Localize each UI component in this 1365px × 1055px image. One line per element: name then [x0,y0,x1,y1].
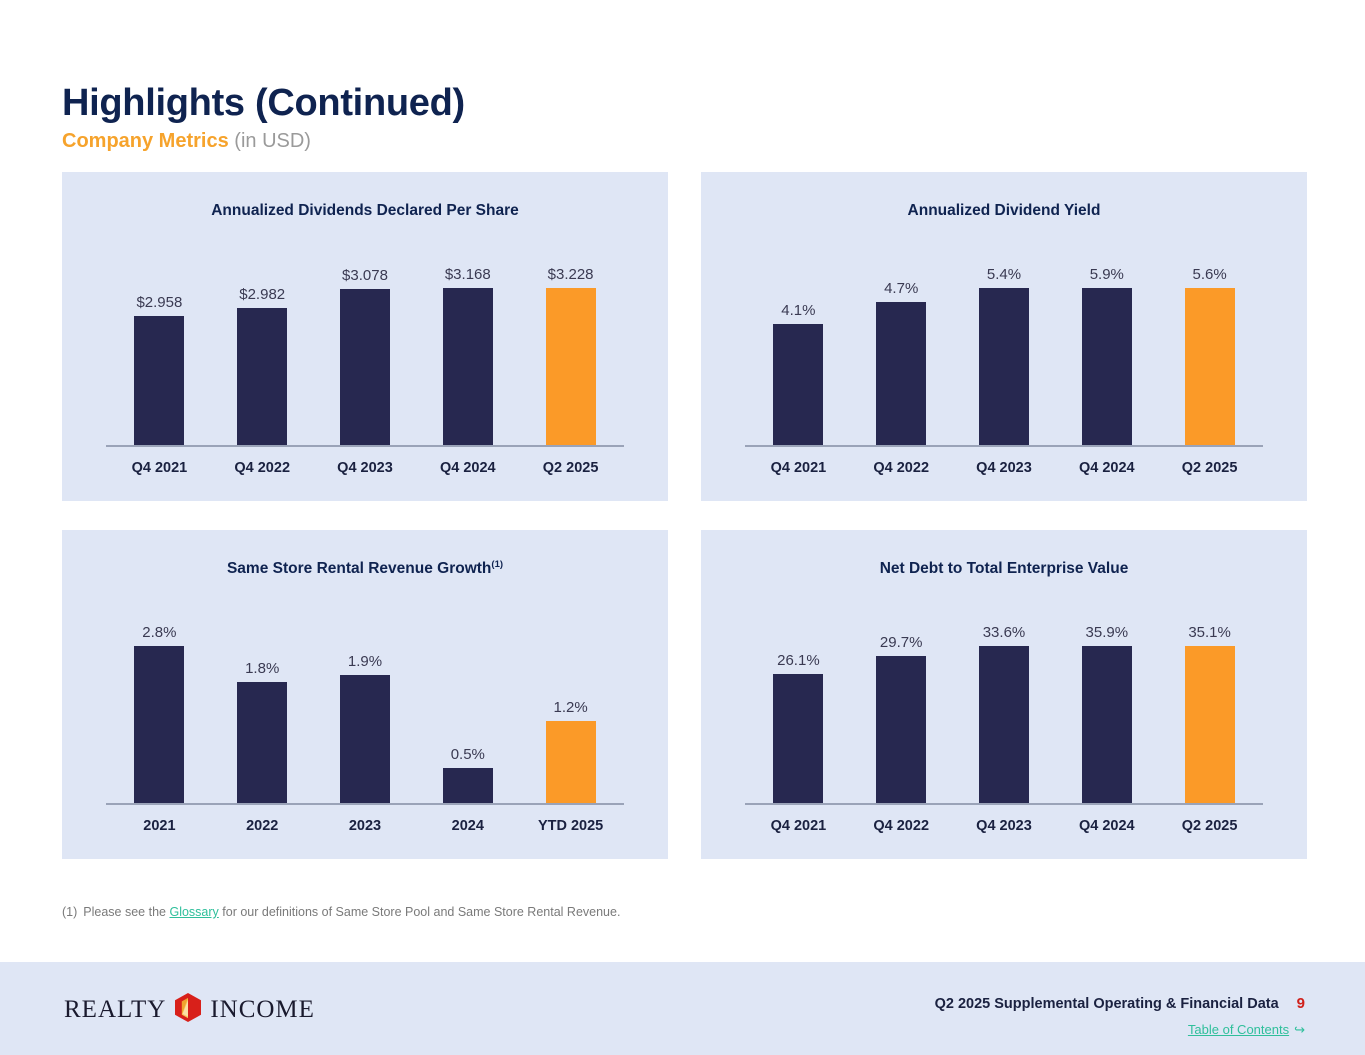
bar-slot: 1.2% [519,625,622,803]
chart-plot-area: 2.8%1.8%1.9%0.5%1.2%2021202220232024YTD … [62,607,668,859]
bar [773,324,823,445]
bar [237,308,287,445]
bar-slot: 4.1% [747,267,850,445]
bar-value-label: 26.1% [777,653,820,668]
logo-text-income: INCOME [210,996,315,1024]
footer-document-title: Q2 2025 Supplemental Operating & Financi… [935,997,1279,1012]
bar-value-label: $3.078 [342,268,388,283]
x-axis-tick-label: Q4 2023 [953,461,1056,476]
bar-value-label: 5.9% [1090,267,1124,282]
x-axis-line [745,803,1263,805]
bar [546,721,596,803]
bar [443,768,493,803]
bar-slot: 35.1% [1158,625,1261,803]
x-axis-tick-label: 2021 [108,819,211,834]
bar [237,682,287,803]
bar [340,675,390,803]
bar-value-label: 4.7% [884,281,918,296]
chart-title-text: Annualized Dividend Yield [908,202,1101,219]
chart-title: Same Store Rental Revenue Growth(1) [62,530,668,577]
bar-slot: 5.4% [953,267,1056,445]
bar-slot: 1.9% [314,625,417,803]
table-of-contents-row: Table of Contents↪ [935,1023,1305,1036]
bar-slot: 33.6% [953,625,1056,803]
bar-slot: $2.982 [211,267,314,445]
x-axis-tick-label: Q2 2025 [1158,819,1261,834]
bar [546,288,596,445]
bar [876,656,926,803]
chart-card: Same Store Rental Revenue Growth(1)2.8%1… [62,530,668,859]
chart-plot-area: 26.1%29.7%33.6%35.9%35.1%Q4 2021Q4 2022Q… [701,607,1307,859]
chart-card: Annualized Dividend Yield4.1%4.7%5.4%5.9… [701,172,1307,501]
chart-card: Annualized Dividends Declared Per Share$… [62,172,668,501]
x-axis-tick-label: Q4 2022 [850,461,953,476]
chart-card: Net Debt to Total Enterprise Value26.1%2… [701,530,1307,859]
footer-right-block: Q2 2025 Supplemental Operating & Financi… [935,996,1305,1036]
x-axis-tick-label: 2024 [416,819,519,834]
bar-value-label: 0.5% [451,747,485,762]
bar [443,288,493,445]
bar-slot: 35.9% [1055,625,1158,803]
x-axis-tick-label: YTD 2025 [519,819,622,834]
bar-slot: 1.8% [211,625,314,803]
bar-slot: 2.8% [108,625,211,803]
bar-slot: 5.6% [1158,267,1261,445]
page-number: 9 [1297,996,1305,1011]
page-title: Highlights (Continued) [62,84,1302,124]
x-axis-tick-label: Q4 2024 [1055,819,1158,834]
chart-title-text: Net Debt to Total Enterprise Value [880,560,1129,577]
bar [979,646,1029,803]
bar-value-label: 33.6% [983,625,1026,640]
bar [773,674,823,803]
x-axis-tick-label: Q4 2024 [416,461,519,476]
x-axis-tick-label: Q4 2022 [850,819,953,834]
x-axis-tick-label: Q4 2023 [314,461,417,476]
footnote-text-after: for our definitions of Same Store Pool a… [222,905,620,919]
bar [134,646,184,803]
x-axis-tick-label: Q4 2023 [953,819,1056,834]
slide-subtitle: Company Metrics (in USD) [62,130,1302,152]
arrow-return-icon[interactable]: ↪ [1294,1022,1305,1037]
x-axis-tick-labels: Q4 2021Q4 2022Q4 2023Q4 2024Q2 2025 [108,461,622,476]
bar-series: 26.1%29.7%33.6%35.9%35.1% [747,625,1261,803]
bar-slot: 5.9% [1055,267,1158,445]
bar [340,289,390,445]
bar [1185,646,1235,803]
footnote-marker: (1) [62,905,77,919]
footer-title-row: Q2 2025 Supplemental Operating & Financi… [935,996,1305,1012]
realty-income-logo: REALTY INCOME [64,995,315,1025]
table-of-contents-link[interactable]: Table of Contents [1188,1022,1289,1037]
x-axis-tick-label: Q4 2024 [1055,461,1158,476]
hexagon-house-icon [173,992,203,1028]
x-axis-tick-labels: 2021202220232024YTD 2025 [108,819,622,834]
bar-value-label: 1.8% [245,661,279,676]
x-axis-tick-labels: Q4 2021Q4 2022Q4 2023Q4 2024Q2 2025 [747,819,1261,834]
bar [876,302,926,445]
bar-slot: $3.168 [416,267,519,445]
bar-value-label: $3.228 [548,267,594,282]
bar-slot: $3.078 [314,267,417,445]
chart-title-footnote-marker: (1) [491,559,503,570]
x-axis-tick-label: 2022 [211,819,314,834]
x-axis-tick-label: Q4 2021 [747,819,850,834]
bar-value-label: 2.8% [142,625,176,640]
bar-slot: 0.5% [416,625,519,803]
x-axis-line [106,445,624,447]
bar-value-label: 35.9% [1086,625,1129,640]
bar-slot: 29.7% [850,625,953,803]
bar-slot: 4.7% [850,267,953,445]
bar-series: 4.1%4.7%5.4%5.9%5.6% [747,267,1261,445]
x-axis-tick-label: Q2 2025 [1158,461,1261,476]
bar-value-label: 1.9% [348,654,382,669]
bar-value-label: 35.1% [1188,625,1231,640]
chart-plot-area: $2.958$2.982$3.078$3.168$3.228Q4 2021Q4 … [62,249,668,501]
glossary-link[interactable]: Glossary [169,905,218,919]
bar-series: $2.958$2.982$3.078$3.168$3.228 [108,267,622,445]
bar-value-label: 4.1% [781,303,815,318]
bar-value-label: 5.4% [987,267,1021,282]
x-axis-tick-label: Q4 2021 [108,461,211,476]
chart-title-text: Same Store Rental Revenue Growth [227,560,491,577]
bar [134,316,184,445]
bar [979,288,1029,445]
x-axis-tick-label: Q2 2025 [519,461,622,476]
x-axis-line [745,445,1263,447]
x-axis-tick-labels: Q4 2021Q4 2022Q4 2023Q4 2024Q2 2025 [747,461,1261,476]
chart-grid: Annualized Dividends Declared Per Share$… [62,172,1307,859]
bar-slot: $2.958 [108,267,211,445]
x-axis-tick-label: Q4 2021 [747,461,850,476]
slide-header: Highlights (Continued) Company Metrics (… [62,84,1302,152]
subtitle-secondary: (in USD) [234,130,311,152]
footnote-text-before: Please see the [83,905,166,919]
slide-footer: REALTY INCOME Q2 2025 Supplemental Opera… [0,962,1365,1055]
bar-value-label: 1.2% [553,700,587,715]
bar-slot: 26.1% [747,625,850,803]
bar [1082,288,1132,445]
chart-title-text: Annualized Dividends Declared Per Share [211,202,519,219]
footnote: (1)Please see the Glossary for our defin… [62,905,620,919]
chart-plot-area: 4.1%4.7%5.4%5.9%5.6%Q4 2021Q4 2022Q4 202… [701,249,1307,501]
bar-series: 2.8%1.8%1.9%0.5%1.2% [108,625,622,803]
chart-title: Annualized Dividend Yield [701,172,1307,219]
logo-text-realty: REALTY [64,996,166,1024]
x-axis-tick-label: Q4 2022 [211,461,314,476]
chart-title: Net Debt to Total Enterprise Value [701,530,1307,577]
bar-slot: $3.228 [519,267,622,445]
bar [1185,288,1235,445]
bar-value-label: 29.7% [880,635,923,650]
x-axis-tick-label: 2023 [314,819,417,834]
chart-title: Annualized Dividends Declared Per Share [62,172,668,219]
subtitle-primary: Company Metrics [62,130,229,152]
bar-value-label: $2.982 [239,287,285,302]
x-axis-line [106,803,624,805]
bar-value-label: 5.6% [1192,267,1226,282]
bar-value-label: $3.168 [445,267,491,282]
bar [1082,646,1132,803]
bar-value-label: $2.958 [136,295,182,310]
